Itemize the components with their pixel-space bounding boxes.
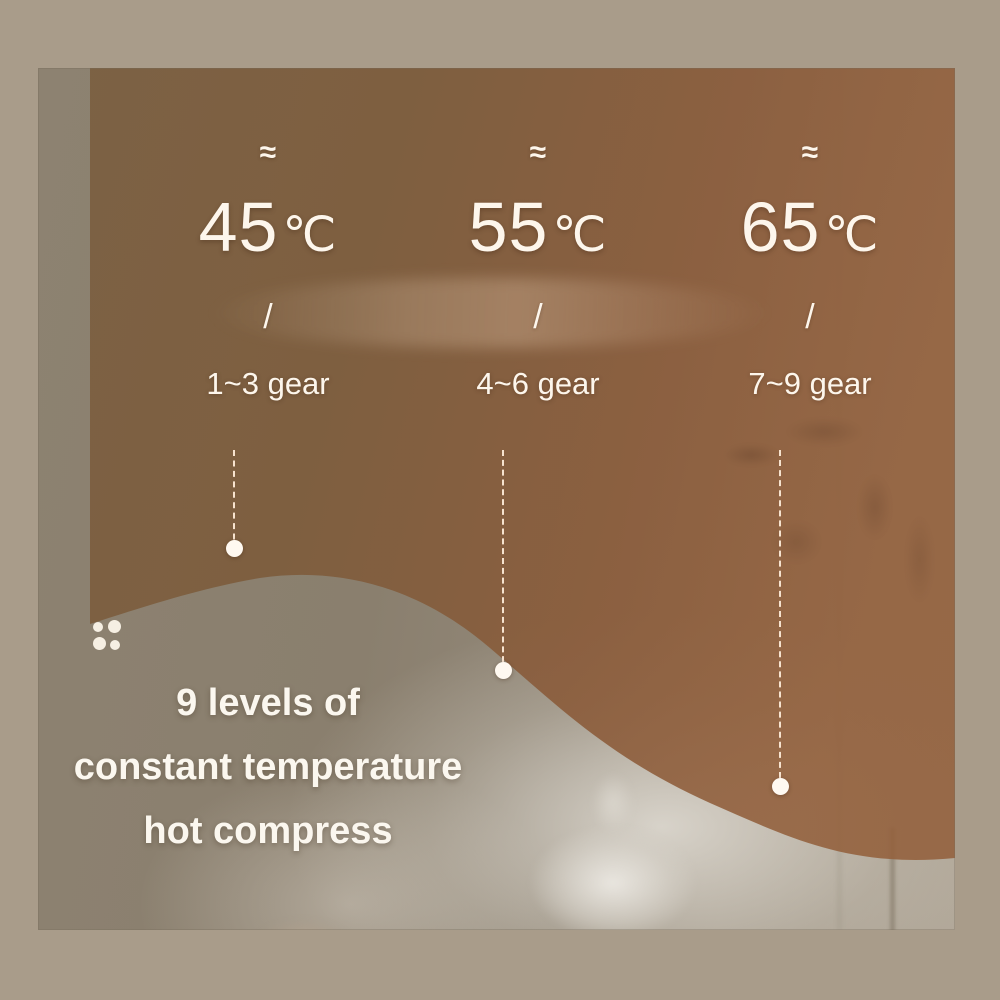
dashed-line xyxy=(502,450,504,672)
four-dots-icon xyxy=(93,620,123,650)
caption-line-3: hot compress xyxy=(38,800,498,864)
leader-line-1 xyxy=(224,450,244,550)
temperature-value: 45℃ xyxy=(168,192,368,262)
temperature-unit: ℃ xyxy=(282,209,337,262)
leader-end-dot xyxy=(226,540,243,557)
wave-icon: ≈ xyxy=(438,138,638,168)
temperature-number: 45 xyxy=(199,188,279,266)
dot-bottom-left xyxy=(93,637,106,650)
separator-slash: / xyxy=(710,300,910,334)
wave-icon: ≈ xyxy=(168,138,368,168)
dot-top-left xyxy=(93,622,103,632)
temperature-column-2: ≈ 55℃ / 4~6 gear xyxy=(438,138,638,399)
temperature-column-1: ≈ 45℃ / 1~3 gear xyxy=(168,138,368,399)
caption-line-1: 9 levels of xyxy=(38,672,498,736)
gear-range-label: 1~3 gear xyxy=(168,368,368,399)
wave-icon: ≈ xyxy=(710,138,910,168)
caption-block: 9 levels of constant temperature hot com… xyxy=(38,672,498,863)
leader-line-2 xyxy=(493,450,513,672)
dashed-line xyxy=(233,450,235,550)
gear-range-label: 7~9 gear xyxy=(710,368,910,399)
temperature-number: 55 xyxy=(469,188,549,266)
poster-root: ≈ 45℃ / 1~3 gear ≈ 55℃ / 4~6 gear ≈ 65℃ … xyxy=(0,0,1000,1000)
separator-slash: / xyxy=(438,300,638,334)
temperature-column-3: ≈ 65℃ / 7~9 gear xyxy=(710,138,910,399)
leader-line-3 xyxy=(770,450,790,788)
dashed-line xyxy=(779,450,781,788)
temperature-unit: ℃ xyxy=(824,209,879,262)
dot-top-right xyxy=(108,620,121,633)
gear-range-label: 4~6 gear xyxy=(438,368,638,399)
temperature-value: 55℃ xyxy=(438,192,638,262)
dot-bottom-right xyxy=(110,640,120,650)
temperature-unit: ℃ xyxy=(552,209,607,262)
leader-end-dot xyxy=(772,778,789,795)
separator-slash: / xyxy=(168,300,368,334)
temperature-value: 65℃ xyxy=(710,192,910,262)
temperature-number: 65 xyxy=(741,188,821,266)
caption-line-2: constant temperature xyxy=(38,736,498,800)
